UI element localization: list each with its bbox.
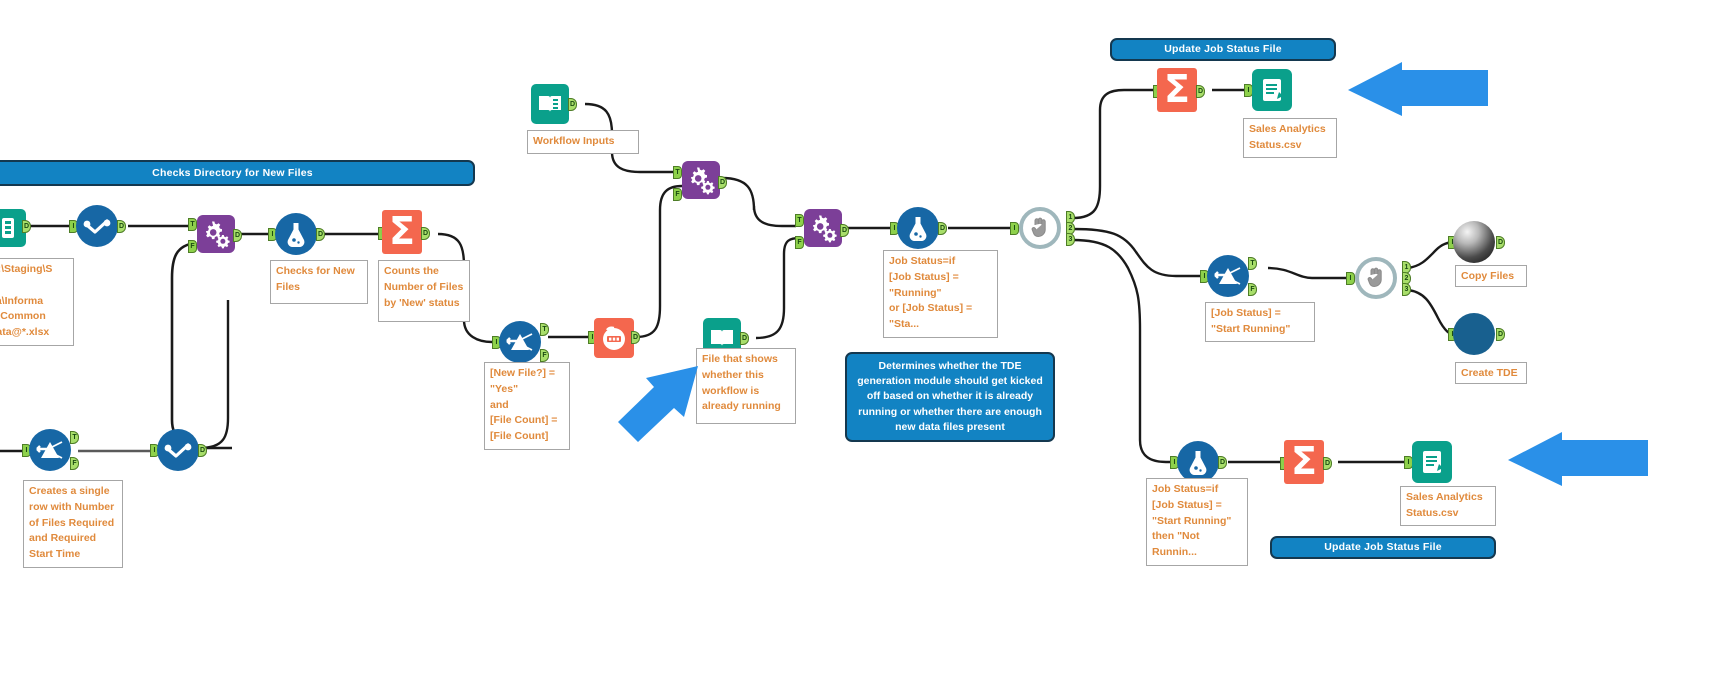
- tool-control-container-mid[interactable]: I 1 2 3: [1018, 206, 1062, 250]
- container-label: Checks Directory for New Files: [152, 167, 313, 179]
- tool-formula-checks-new-files[interactable]: I D: [274, 212, 318, 256]
- anchor-output[interactable]: D: [233, 229, 242, 242]
- tool-directory-gears[interactable]: T F D: [190, 212, 234, 256]
- tool-workflow-inputs[interactable]: D: [528, 82, 572, 126]
- annotation-checks-for-new-files: Checks for New Files: [270, 260, 368, 304]
- filter-triangle-icon: [1206, 254, 1250, 298]
- pointer-arrow-center: [612, 360, 702, 450]
- pointer-arrow-bottom-right: [1500, 432, 1650, 492]
- annotation-sales-analytics-status-bottom: Sales Analytics Status.csv: [1400, 486, 1496, 526]
- anchor-output[interactable]: D: [1323, 457, 1332, 470]
- container-update-job-status-top[interactable]: Update Job Status File: [1110, 38, 1336, 61]
- anchor-output[interactable]: D: [718, 176, 727, 189]
- sphere-blue-icon: [1452, 312, 1496, 356]
- anchor-output[interactable]: D: [421, 227, 430, 240]
- sigma-icon: Σ: [1155, 68, 1199, 112]
- anchor-output[interactable]: D: [631, 331, 640, 344]
- output-data-icon: [1410, 440, 1454, 484]
- tool-filter-check-left-top[interactable]: I D: [75, 204, 119, 248]
- tool-summarize-top[interactable]: I Σ D: [1155, 68, 1199, 112]
- sigma-icon: Σ: [1282, 440, 1326, 484]
- gears-icon: [801, 206, 845, 250]
- container-checks-directory[interactable]: Checks Directory for New Files: [0, 160, 475, 186]
- anchor-true[interactable]: T: [540, 323, 549, 336]
- workflow-canvas[interactable]: Checks Directory for New Files Update Jo…: [0, 0, 1728, 682]
- anchor-false[interactable]: F: [540, 349, 549, 362]
- filter-triangle-icon: [498, 320, 542, 364]
- tool-create-tde[interactable]: I D: [1452, 312, 1496, 356]
- annotation-counts-number-of-files: Counts the Number of Files by 'New' stat…: [378, 260, 470, 322]
- tool-control-container-right[interactable]: I 1 2 3: [1354, 256, 1398, 300]
- comment-determines-tde[interactable]: Determines whether the TDE generation mo…: [845, 352, 1055, 442]
- anchor-output[interactable]: D: [1218, 456, 1227, 469]
- tool-summarize-count[interactable]: I Σ D: [380, 210, 424, 254]
- tool-join-gears-mid[interactable]: T F D: [796, 206, 840, 250]
- hand-block-icon: [1018, 206, 1062, 250]
- anchor-output[interactable]: D: [740, 332, 749, 345]
- tool-filter-check-left-bottom[interactable]: I D: [156, 428, 200, 472]
- annotation-file-already-running: File that shows whether this workflow is…: [696, 348, 796, 424]
- anchor-output[interactable]: D: [1196, 85, 1205, 98]
- anchor-true[interactable]: T: [1248, 257, 1257, 270]
- anchor-output[interactable]: D: [1496, 236, 1505, 249]
- annotation-job-status-start-running: [Job Status] = "Start Running": [1205, 302, 1315, 342]
- tool-datetime[interactable]: I D: [590, 316, 634, 360]
- annotation-workflow-inputs: Workflow Inputs: [527, 130, 639, 154]
- datetime-icon: [592, 316, 636, 360]
- annotation-job-status-formula-bottom: Job Status=if [Job Status] = "Start Runn…: [1146, 478, 1248, 566]
- filter-check-icon: [156, 428, 200, 472]
- anchor-output[interactable]: D: [840, 224, 849, 237]
- tool-copy-files[interactable]: I D: [1452, 220, 1496, 264]
- anchor-false[interactable]: F: [70, 457, 79, 470]
- flask-icon: [274, 212, 318, 256]
- tool-output-status-bottom[interactable]: I: [1406, 440, 1450, 484]
- filter-triangle-icon: [28, 428, 72, 472]
- container-label: Update Job Status File: [1324, 541, 1442, 553]
- tool-filter-new-file[interactable]: I T F: [498, 320, 542, 364]
- tool-input-data-left[interactable]: D: [0, 206, 30, 250]
- tool-join-gears-top[interactable]: T F D: [674, 158, 718, 202]
- sphere-dark-icon: [1452, 220, 1496, 264]
- sigma-icon: Σ: [380, 210, 424, 254]
- gears-icon: [194, 212, 238, 256]
- annotation-create-tde: Create TDE: [1455, 362, 1527, 384]
- anchor-output[interactable]: D: [568, 98, 577, 111]
- anchor-false[interactable]: F: [1248, 283, 1257, 296]
- anchor-three[interactable]: 3: [1402, 283, 1411, 296]
- annotation-new-file-filter: [New File?] = "Yes" and [File Count] = […: [484, 362, 570, 450]
- book-icon: [528, 82, 572, 126]
- filter-check-icon: [75, 204, 119, 248]
- flask-icon: [896, 206, 940, 250]
- container-update-job-status-bottom[interactable]: Update Job Status File: [1270, 536, 1496, 559]
- anchor-output[interactable]: D: [938, 222, 947, 235]
- gears-icon: [679, 158, 723, 202]
- annotation-creates-single-row: Creates a single row with Number of File…: [23, 480, 123, 568]
- annotation-copy-files: Copy Files: [1455, 265, 1527, 287]
- annotation-job-status-formula-top: Job Status=if [Job Status] = "Running" o…: [883, 250, 998, 338]
- pointer-arrow-top-right: [1340, 62, 1490, 122]
- anchor-output[interactable]: D: [198, 444, 207, 457]
- hand-block-icon: [1354, 256, 1398, 300]
- anchor-output[interactable]: D: [1496, 328, 1505, 341]
- annotation-directory-path: C:\Staging\S ca\Informa @Common data@*.x…: [0, 258, 74, 346]
- comment-text: Determines whether the TDE generation mo…: [855, 359, 1045, 435]
- anchor-three[interactable]: 3: [1066, 233, 1075, 246]
- tool-filter-required-files[interactable]: I T F: [28, 428, 72, 472]
- tool-filter-start-running[interactable]: I T F: [1206, 254, 1250, 298]
- tool-output-status-top[interactable]: I: [1246, 68, 1290, 112]
- anchor-output[interactable]: D: [117, 220, 126, 233]
- anchor-true[interactable]: T: [70, 431, 79, 444]
- annotation-sales-analytics-status-top: Sales Analytics Status.csv: [1243, 118, 1337, 158]
- anchor-output[interactable]: D: [316, 228, 325, 241]
- tool-formula-job-status-mid[interactable]: I D: [896, 206, 940, 250]
- output-data-icon: [1250, 68, 1294, 112]
- tool-summarize-bottom[interactable]: I Σ D: [1282, 440, 1326, 484]
- container-label: Update Job Status File: [1164, 43, 1282, 55]
